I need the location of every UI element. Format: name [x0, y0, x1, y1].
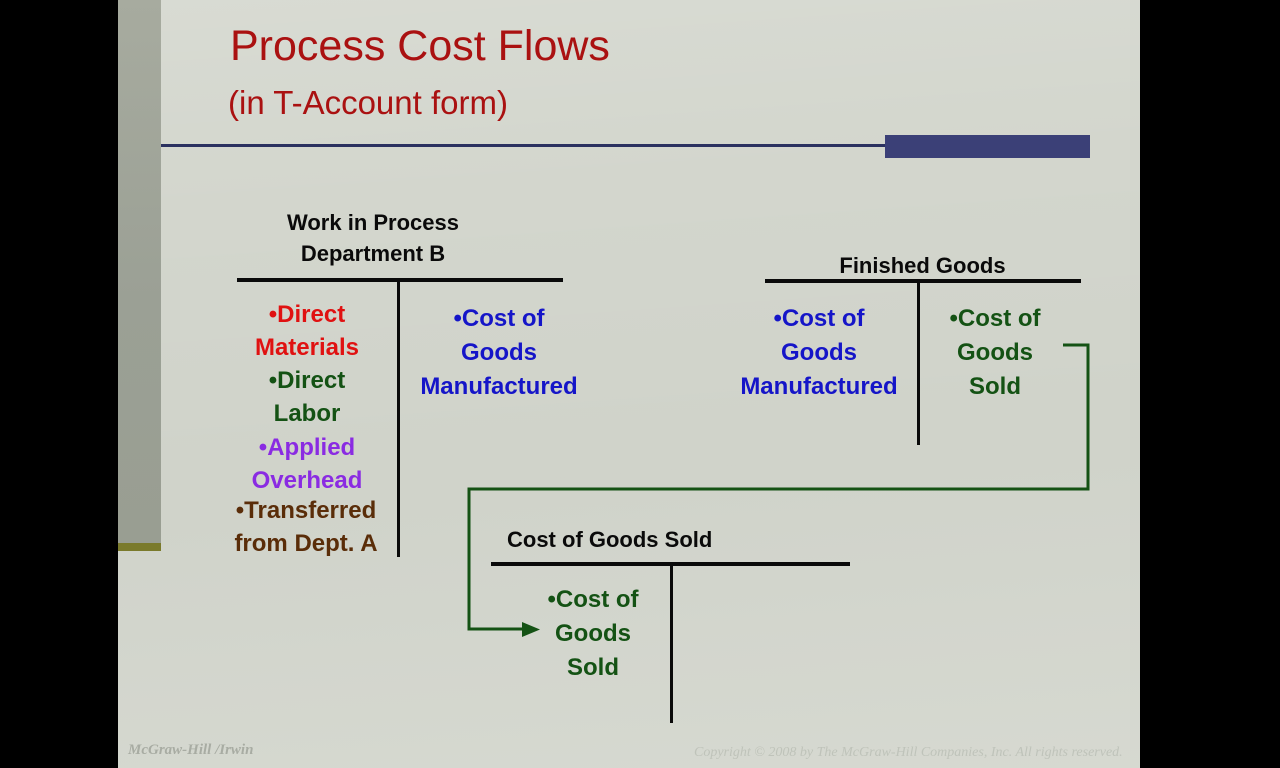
- t-account-hline-wip: [237, 278, 563, 282]
- t-entry-wip-cogm-line1: •Cost of: [406, 302, 592, 336]
- t-account-title-wip-line1: Work in Process: [258, 210, 488, 236]
- header-accent-block: [885, 135, 1090, 158]
- t-entry-fg-cogm-line3: Manufactured: [726, 370, 912, 404]
- t-entry-cogs-line2: Goods: [528, 617, 658, 651]
- t-entry-fg-cogm-line2: Goods: [726, 336, 912, 370]
- t-account-hline-finished-goods: [765, 279, 1081, 283]
- t-entry-direct-labor-line2: Labor: [222, 397, 392, 431]
- t-entry-direct-materials-line2: Materials: [222, 331, 392, 365]
- t-entry-direct-materials-line1: •Direct: [222, 298, 392, 332]
- letterbox-left: [0, 0, 118, 768]
- page-subtitle: (in T-Account form): [228, 84, 508, 122]
- t-entry-fg-cogs-line3: Sold: [930, 370, 1060, 404]
- t-entry-transferred-from-dept-a-line2: from Dept. A: [213, 527, 399, 561]
- t-entry-fg-cogs-line1: •Cost of: [930, 302, 1060, 336]
- t-entry-wip-cogm-line3: Manufactured: [406, 370, 592, 404]
- t-account-title-cost-of-goods-sold: Cost of Goods Sold: [507, 527, 837, 553]
- t-entry-fg-cogs-line2: Goods: [930, 336, 1060, 370]
- t-entry-direct-labor-line1: •Direct: [222, 364, 392, 398]
- t-entry-cogs-line1: •Cost of: [528, 583, 658, 617]
- t-entry-applied-overhead-line2: Overhead: [222, 464, 392, 498]
- t-account-title-wip-line2: Department B: [258, 241, 488, 267]
- footer-copyright: Copyright © 2008 by The McGraw-Hill Comp…: [694, 745, 1123, 761]
- letterbox-right: [1140, 0, 1280, 768]
- t-entry-wip-cogm-line2: Goods: [406, 336, 592, 370]
- t-account-vline-finished-goods: [917, 280, 920, 445]
- t-account-title-finished-goods: Finished Goods: [765, 253, 1080, 279]
- t-entry-fg-cogm-line1: •Cost of: [726, 302, 912, 336]
- page-title: Process Cost Flows: [230, 22, 610, 71]
- slide-root: Process Cost Flows (in T-Account form) W…: [0, 0, 1280, 768]
- t-entry-cogs-line3: Sold: [528, 651, 658, 685]
- decorative-left-band-foot: [118, 543, 161, 551]
- decorative-left-band: [118, 0, 161, 543]
- t-entry-applied-overhead-line1: •Applied: [222, 431, 392, 465]
- t-entry-transferred-from-dept-a-line1: •Transferred: [213, 494, 399, 528]
- t-account-vline-cost-of-goods-sold: [670, 563, 673, 723]
- footer-brand: McGraw-Hill /Irwin: [128, 742, 253, 759]
